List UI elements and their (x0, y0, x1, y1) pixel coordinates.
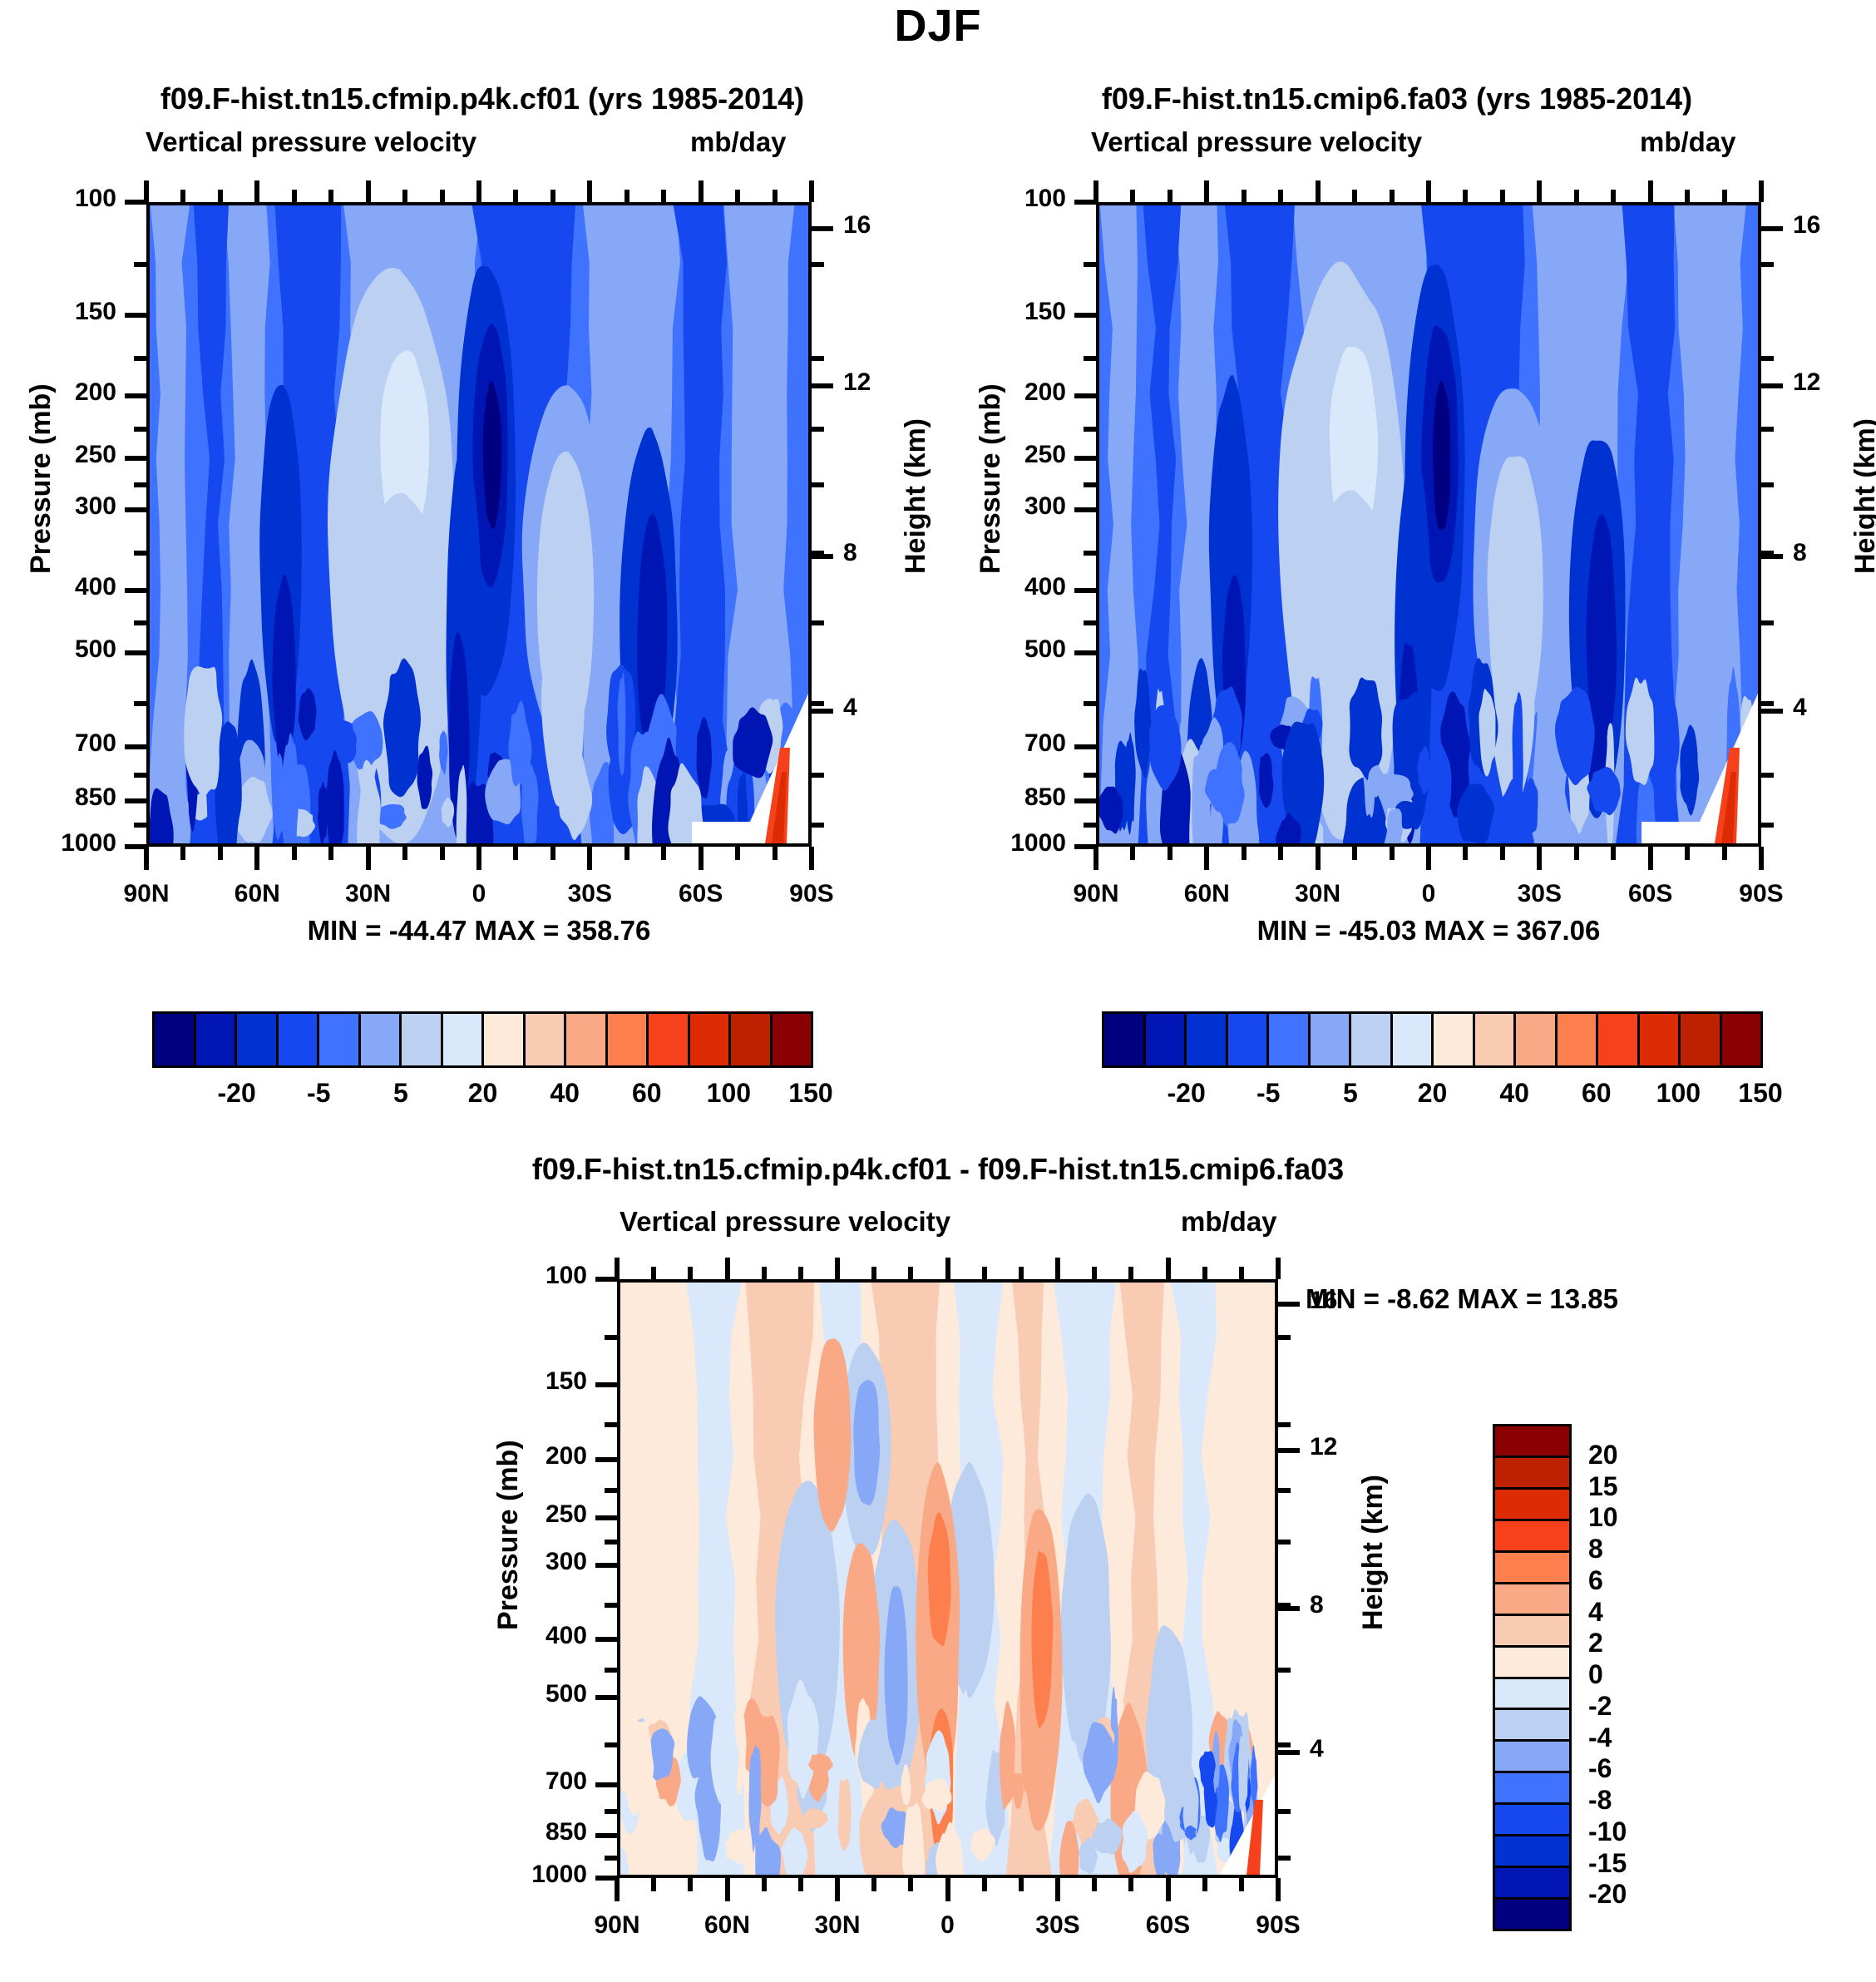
lat-top-tick (625, 190, 629, 202)
lat-top-tick (328, 190, 333, 202)
lat-minor-tick (762, 1878, 767, 1891)
lat-minor-tick (1168, 847, 1172, 860)
lat-top-tick (1130, 190, 1135, 202)
height-tick (1761, 226, 1783, 231)
pressure-tick-label: 500 (913, 635, 1066, 664)
height-minor-tick (812, 262, 824, 267)
lat-minor-tick (1500, 847, 1505, 860)
colorbar-tick-label: 8 (1588, 1534, 1603, 1564)
lat-top-tick (1500, 190, 1505, 202)
pressure-minor-tick (605, 1603, 617, 1608)
masked-terrain-strip (1641, 822, 1708, 843)
lat-top-tick (773, 190, 778, 202)
lat-minor-tick (402, 847, 407, 860)
colorbar-cell (402, 1014, 443, 1065)
lat-top-tick (982, 1267, 987, 1279)
colorbar-cell (1495, 1679, 1569, 1711)
pressure-tick-label: 850 (0, 783, 116, 812)
colorbar-cell (773, 1014, 812, 1065)
pressure-minor-tick (605, 1809, 617, 1814)
height-minor-tick (1761, 427, 1774, 432)
pressure-tick (595, 1382, 617, 1387)
pressure-minor-tick (134, 620, 146, 625)
pressure-tick-label: 150 (913, 298, 1066, 326)
lat-top-tick (809, 180, 814, 202)
lat-minor-tick (1242, 847, 1247, 860)
pressure-tick (125, 798, 146, 803)
lat-minor-tick (550, 847, 555, 860)
height-tick (812, 383, 833, 388)
lat-top-tick (1685, 190, 1690, 202)
pressure-minor-tick (134, 823, 146, 828)
lat-major-tick (1316, 847, 1321, 870)
height-tick-label: 4 (843, 694, 910, 722)
lat-top-tick (1390, 190, 1395, 202)
plot-area-right[interactable] (1096, 202, 1761, 847)
lat-minor-tick (773, 847, 778, 860)
pressure-tick-label: 150 (0, 298, 116, 326)
lat-major-tick (835, 1878, 840, 1901)
colorbar-cell (1495, 1710, 1569, 1742)
lat-tick-label: 90N (559, 1911, 675, 1940)
pressure-minor-tick (1084, 262, 1096, 267)
pressure-tick-label: 150 (434, 1367, 587, 1396)
colorbar-cell (1598, 1014, 1640, 1065)
pressure-tick-label: 300 (434, 1548, 587, 1576)
pressure-tick (595, 1637, 617, 1642)
pressure-minor-tick (1084, 482, 1096, 487)
minmax-left: MIN = -44.47 MAX = 358.76 (146, 915, 812, 947)
lat-minor-tick (1685, 847, 1690, 860)
pressure-tick (595, 1515, 617, 1520)
lat-top-tick (615, 1258, 620, 1279)
height-minor-tick (1761, 620, 1774, 625)
pressure-tick-label: 400 (434, 1622, 587, 1650)
pressure-tick-label: 850 (913, 783, 1066, 812)
pressure-minor-tick (1084, 773, 1096, 778)
pressure-tick (1074, 456, 1096, 461)
pressure-tick-label: 400 (913, 573, 1066, 601)
height-minor-tick (1278, 1603, 1291, 1608)
pressure-minor-tick (1084, 551, 1096, 556)
lat-tick-label: 60S (1110, 1911, 1227, 1940)
colorbar-cell (1146, 1014, 1187, 1065)
pressure-tick (125, 588, 146, 593)
lat-minor-tick (1722, 847, 1727, 860)
height-minor-tick (1761, 823, 1774, 828)
height-minor-tick (812, 551, 824, 556)
lat-major-tick (366, 847, 371, 870)
lat-top-tick (1722, 190, 1727, 202)
lat-top-tick (1094, 180, 1098, 202)
height-minor-tick (812, 427, 824, 432)
height-tick (1278, 1750, 1300, 1755)
colorbar-tick-label: 10 (1588, 1502, 1618, 1533)
lat-tick-label: 60N (1148, 880, 1265, 908)
panel-right-units: mb/day (1640, 126, 1736, 158)
height-minor-tick (1278, 1335, 1291, 1340)
height-tick-label: 8 (1310, 1591, 1376, 1619)
lat-major-tick (587, 847, 592, 870)
pressure-tick-label: 250 (913, 441, 1066, 469)
colorbar-diff[interactable] (1493, 1424, 1572, 1931)
lat-major-tick (945, 1878, 950, 1901)
height-minor-tick (1278, 1488, 1291, 1493)
lat-major-tick (144, 847, 149, 870)
lat-top-tick (835, 1258, 840, 1279)
pressure-minor-tick (1084, 701, 1096, 706)
colorbar-cell (237, 1014, 279, 1065)
colorbar-cell (1351, 1014, 1393, 1065)
pressure-tick (1074, 393, 1096, 398)
lat-top-tick (1316, 180, 1321, 202)
lat-tick-label: 90S (1220, 1911, 1336, 1940)
masked-terrain-strip (692, 822, 758, 843)
pressure-tick-label: 1000 (913, 829, 1066, 858)
colorbar-cell (1516, 1014, 1558, 1065)
colorbar-cell (1434, 1014, 1475, 1065)
colorbar-tick-label: 150 (1711, 1078, 1810, 1109)
lat-tick-label: 60N (199, 880, 315, 908)
pressure-tick (595, 1563, 617, 1568)
lat-tick-label: 90S (753, 880, 870, 908)
colorbar-cell (526, 1014, 567, 1065)
panel-diff-variable: Vertical pressure velocity (620, 1206, 950, 1238)
colorbar-cell (731, 1014, 773, 1065)
colorbar-cell (196, 1014, 238, 1065)
colorbar-cell (1495, 1742, 1569, 1773)
pressure-tick-label: 250 (0, 441, 116, 469)
lat-top-tick (1648, 180, 1653, 202)
lat-top-tick (180, 190, 185, 202)
lat-top-tick (1426, 180, 1431, 202)
pressure-minor-tick (134, 773, 146, 778)
lat-major-tick (1648, 847, 1653, 870)
pressure-tick-label: 100 (913, 185, 1066, 213)
pressure-minor-tick (134, 427, 146, 432)
colorbar-tick-label: -20 (1588, 1879, 1627, 1910)
pressure-tick (595, 1695, 617, 1700)
pressure-tick (1074, 798, 1096, 803)
pressure-tick-label: 1000 (434, 1861, 587, 1889)
pressure-tick (125, 650, 146, 655)
colorbar-cell (1475, 1014, 1517, 1065)
colorbar-tick-label: -10 (1588, 1816, 1627, 1847)
lat-top-tick (651, 1267, 656, 1279)
pressure-tick (125, 507, 146, 512)
lat-top-tick (1574, 190, 1579, 202)
height-tick (812, 709, 833, 714)
lat-top-tick (587, 180, 592, 202)
colorbar-cell (319, 1014, 361, 1065)
pressure-tick-label: 100 (0, 185, 116, 213)
colorbar-cell (566, 1014, 608, 1065)
lat-top-tick (1611, 190, 1616, 202)
lat-top-tick (440, 190, 445, 202)
height-tick-label: 12 (1793, 368, 1859, 397)
lat-top-tick (218, 190, 223, 202)
colorbar-cell (1393, 1014, 1434, 1065)
lat-major-tick (1276, 1878, 1281, 1901)
pressure-tick-label: 850 (434, 1818, 587, 1846)
lat-tick-label: 90S (1703, 880, 1819, 908)
colorbar-tick-label: 6 (1588, 1565, 1603, 1596)
height-minor-tick (1278, 1742, 1291, 1747)
pressure-minor-tick (1084, 823, 1096, 828)
pressure-minor-tick (134, 701, 146, 706)
lat-top-tick (1204, 180, 1209, 202)
colorbar-tick-label: -15 (1588, 1848, 1627, 1879)
height-minor-tick (1278, 1856, 1291, 1861)
lat-major-tick (1204, 847, 1209, 870)
colorbar-cell (484, 1014, 526, 1065)
colorbar-cell (279, 1014, 320, 1065)
lat-minor-tick (1092, 1878, 1097, 1891)
pressure-tick-label: 200 (913, 378, 1066, 407)
lat-minor-tick (1574, 847, 1579, 860)
lat-tick-label: 30N (779, 1911, 896, 1940)
height-minor-tick (1278, 1668, 1291, 1673)
colorbar-tick-label: -2 (1588, 1691, 1612, 1722)
lat-tick-label: 30S (1481, 880, 1597, 908)
pressure-tick (595, 1457, 617, 1462)
colorbar-tick-label: 15 (1588, 1471, 1618, 1502)
height-minor-tick (1761, 482, 1774, 487)
height-minor-tick (812, 356, 824, 361)
height-minor-tick (1761, 701, 1774, 706)
lat-top-tick (1242, 190, 1247, 202)
pressure-tick-label: 500 (434, 1680, 587, 1708)
pressure-minor-tick (1084, 620, 1096, 625)
pressure-tick-label: 100 (434, 1262, 587, 1290)
pressure-minor-tick (134, 356, 146, 361)
lat-top-tick (254, 180, 259, 202)
lat-minor-tick (625, 847, 629, 860)
lat-top-tick (1278, 190, 1283, 202)
lat-major-tick (1166, 1878, 1171, 1901)
pressure-tick (125, 393, 146, 398)
height-minor-tick (1278, 1540, 1291, 1545)
height-minor-tick (1278, 1422, 1291, 1427)
colorbar-cell (1722, 1014, 1761, 1065)
surface-texture (1387, 808, 1403, 843)
lat-minor-tick (292, 847, 297, 860)
height-minor-tick (812, 823, 824, 828)
lat-major-tick (1094, 847, 1098, 870)
colorbar-cell (1495, 1616, 1569, 1648)
pressure-minor-tick (605, 1335, 617, 1340)
colorbar-cell (1104, 1014, 1146, 1065)
lat-minor-tick (661, 847, 666, 860)
colorbar-cell (155, 1014, 196, 1065)
lat-minor-tick (1130, 847, 1135, 860)
minmax-right: MIN = -45.03 MAX = 367.06 (1096, 915, 1761, 947)
colorbar-left[interactable] (152, 1011, 813, 1068)
colorbar-cell (1495, 1648, 1569, 1679)
colorbar-cell (1558, 1014, 1599, 1065)
lat-minor-tick (688, 1878, 693, 1891)
lat-top-tick (1276, 1258, 1281, 1279)
panel-left-units: mb/day (690, 126, 787, 158)
colorbar-tick-label: 20 (1588, 1440, 1618, 1470)
plot-area-diff[interactable] (617, 1279, 1278, 1878)
lat-tick-label: 90N (1038, 880, 1154, 908)
colorbar-right[interactable] (1102, 1011, 1763, 1068)
height-tick (812, 226, 833, 231)
lat-major-tick (809, 847, 814, 870)
lat-top-tick (402, 190, 407, 202)
lat-major-tick (1759, 847, 1764, 870)
pressure-tick-label: 1000 (0, 829, 116, 858)
lat-top-tick (366, 180, 371, 202)
panel-left-variable: Vertical pressure velocity (146, 126, 476, 158)
lat-major-tick (254, 847, 259, 870)
lat-minor-tick (1019, 1878, 1024, 1891)
lat-top-tick (735, 190, 740, 202)
lat-tick-label: 60S (643, 880, 759, 908)
lat-top-tick (661, 190, 666, 202)
colorbar-cell (1495, 1900, 1569, 1929)
pressure-tick (595, 1782, 617, 1787)
colorbar-tick-label: 4 (1588, 1597, 1603, 1628)
height-minor-tick (1761, 356, 1774, 361)
pressure-tick (125, 744, 146, 749)
lat-minor-tick (735, 847, 740, 860)
lat-major-tick (1537, 847, 1542, 870)
colorbar-cell (1495, 1773, 1569, 1805)
lat-top-tick (513, 190, 518, 202)
lat-tick-label: 30N (310, 880, 427, 908)
pressure-tick (125, 313, 146, 318)
season-title: DJF (0, 0, 1876, 52)
panel-diff-units: mb/day (1181, 1206, 1277, 1238)
lat-minor-tick (871, 1878, 876, 1891)
colorbar-cell (1495, 1490, 1569, 1521)
height-tick-label: 8 (843, 539, 910, 567)
lat-minor-tick (1202, 1878, 1207, 1891)
pressure-minor-tick (1084, 356, 1096, 361)
height-minor-tick (812, 620, 824, 625)
lat-tick-label: 0 (890, 1911, 1006, 1940)
colorbar-cell (1269, 1014, 1311, 1065)
pressure-tick (595, 1833, 617, 1838)
lat-top-tick (476, 180, 481, 202)
pressure-minor-tick (605, 1856, 617, 1861)
pressure-minor-tick (1084, 427, 1096, 432)
lat-tick-label: 0 (421, 880, 537, 908)
pressure-minor-tick (605, 1488, 617, 1493)
lat-minor-tick (651, 1878, 656, 1891)
colorbar-cell (361, 1014, 402, 1065)
pressure-tick-label: 500 (0, 635, 116, 664)
lat-top-tick (688, 1267, 693, 1279)
height-tick (1278, 1448, 1300, 1453)
lat-major-tick (1055, 1878, 1060, 1901)
lat-top-tick (1092, 1267, 1097, 1279)
lat-top-tick (1463, 190, 1468, 202)
lat-minor-tick (982, 1878, 987, 1891)
lat-top-tick (1166, 1258, 1171, 1279)
pressure-tick (1074, 507, 1096, 512)
lat-top-tick (1128, 1267, 1133, 1279)
pressure-tick-label: 200 (434, 1442, 587, 1470)
pressure-tick (1074, 744, 1096, 749)
lat-major-tick (725, 1878, 730, 1901)
diff-cool-lobe-upper-core (853, 1380, 880, 1505)
pressure-minor-tick (134, 262, 146, 267)
height-minor-tick (1761, 773, 1774, 778)
lat-top-tick (1168, 190, 1172, 202)
pressure-tick (1074, 313, 1096, 318)
pressure-tick-label: 250 (434, 1500, 587, 1529)
lat-minor-tick (1611, 847, 1616, 860)
height-tick-label: 16 (1793, 211, 1859, 240)
lat-top-tick (699, 180, 703, 202)
colorbar-cell (1311, 1014, 1352, 1065)
lat-top-tick (550, 190, 555, 202)
colorbar-cell (443, 1014, 485, 1065)
height-minor-tick (812, 482, 824, 487)
colorbar-tick-label: -4 (1588, 1723, 1612, 1753)
lat-minor-tick (328, 847, 333, 860)
colorbar-tick-label: -6 (1588, 1753, 1612, 1784)
colorbar-cell (1495, 1553, 1569, 1584)
colorbar-cell (690, 1014, 732, 1065)
panel-title-left: f09.F-hist.tn15.cfmip.p4k.cf01 (yrs 1985… (50, 82, 915, 116)
height-minor-tick (1761, 551, 1774, 556)
lat-minor-tick (1278, 847, 1283, 860)
pressure-tick-label: 700 (434, 1767, 587, 1796)
colorbar-cell (1495, 1584, 1569, 1616)
minmax-diff: MIN = -8.62 MAX = 13.85 (1306, 1283, 1618, 1315)
lat-minor-tick (1390, 847, 1395, 860)
colorbar-cell (1495, 1836, 1569, 1868)
height-minor-tick (812, 773, 824, 778)
lat-top-tick (1239, 1267, 1244, 1279)
pressure-tick-label: 200 (0, 378, 116, 407)
lat-major-tick (1426, 847, 1431, 870)
colorbar-cell (1228, 1014, 1270, 1065)
pressure-tick-label: 400 (0, 573, 116, 601)
plot-area-left[interactable] (146, 202, 812, 847)
lat-tick-label: 30S (1000, 1911, 1116, 1940)
lat-minor-tick (513, 847, 518, 860)
height-tick (1761, 383, 1783, 388)
pressure-axis-label-left: Pressure (mb) (25, 383, 57, 574)
colorbar-tick-label: 150 (761, 1078, 861, 1109)
lat-tick-label: 0 (1370, 880, 1487, 908)
lat-major-tick (476, 847, 481, 870)
height-tick-label: 4 (1310, 1735, 1376, 1763)
lat-top-tick (1352, 190, 1357, 202)
lat-minor-tick (1352, 847, 1357, 860)
pressure-minor-tick (134, 551, 146, 556)
lat-top-tick (798, 1267, 803, 1279)
lat-top-tick (945, 1258, 950, 1279)
lat-top-tick (1019, 1267, 1024, 1279)
pressure-tick (1074, 650, 1096, 655)
height-tick-label: 12 (843, 368, 910, 397)
pressure-tick (1074, 588, 1096, 593)
lat-tick-label: 60N (669, 1911, 786, 1940)
colorbar-cell (1495, 1521, 1569, 1553)
lat-major-tick (615, 1878, 620, 1901)
lat-major-tick (699, 847, 703, 870)
lat-top-tick (1537, 180, 1542, 202)
panel-right-variable: Vertical pressure velocity (1091, 126, 1422, 158)
lat-minor-tick (1128, 1878, 1133, 1891)
lat-top-tick (1055, 1258, 1060, 1279)
